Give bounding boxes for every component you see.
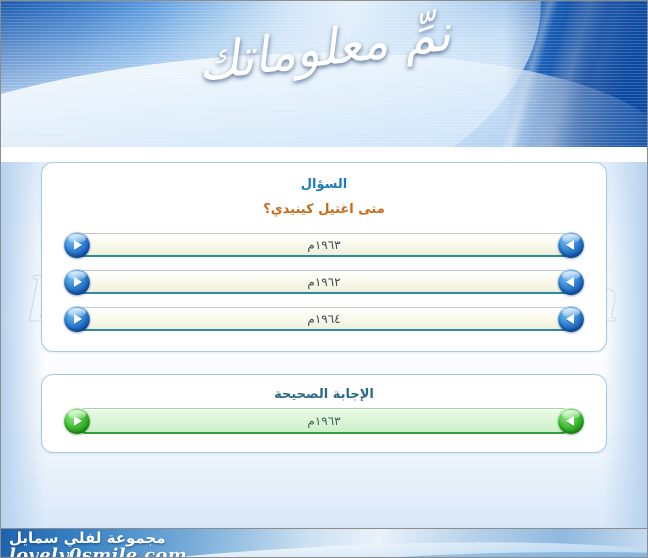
footer-banner: مجموعة لفلي سمايل lovely0smile.com bbox=[1, 528, 647, 558]
question-heading: السؤال bbox=[64, 177, 584, 192]
option-row[interactable]: ١٩٦٢م bbox=[64, 268, 584, 296]
option-label: ١٩٦٢م bbox=[307, 275, 340, 289]
triangle-glyph bbox=[74, 277, 82, 287]
header-banner: نمِّ معلوماتك bbox=[1, 1, 647, 147]
play-right-icon[interactable] bbox=[64, 269, 90, 295]
correct-answer-heading: الإجابة الصحيحة bbox=[64, 387, 584, 402]
play-right-icon[interactable] bbox=[64, 408, 90, 434]
footer-branding: مجموعة لفلي سمايل lovely0smile.com bbox=[9, 531, 187, 558]
triangle-glyph bbox=[566, 277, 574, 287]
option-row[interactable]: ١٩٦٣م bbox=[64, 231, 584, 259]
option-label: ١٩٦٤م bbox=[307, 312, 340, 326]
play-left-icon[interactable] bbox=[558, 408, 584, 434]
play-right-icon[interactable] bbox=[64, 306, 90, 332]
play-left-icon[interactable] bbox=[558, 269, 584, 295]
correct-answer-panel: الإجابة الصحيحة ١٩٦٣م bbox=[41, 374, 607, 453]
play-left-icon[interactable] bbox=[558, 232, 584, 258]
triangle-glyph bbox=[566, 240, 574, 250]
footer-website-url[interactable]: lovely0smile.com bbox=[9, 547, 187, 558]
question-text: متى اغتيل كينيدي؟ bbox=[64, 202, 584, 217]
triangle-glyph bbox=[74, 314, 82, 324]
triangle-glyph bbox=[566, 314, 574, 324]
quiz-page: نمِّ معلوماتك lovely0smile.com السؤال مت… bbox=[0, 0, 648, 558]
content-area: lovely0smile.com السؤال متى اغتيل كينيدي… bbox=[1, 162, 647, 528]
triangle-glyph bbox=[74, 416, 82, 426]
correct-answer-label: ١٩٦٣م bbox=[307, 414, 340, 428]
answer-options-list: ١٩٦٣م ١٩٦٢م bbox=[64, 231, 584, 333]
question-panel: السؤال متى اغتيل كينيدي؟ ١٩٦٣م bbox=[41, 162, 607, 352]
play-right-icon[interactable] bbox=[64, 232, 90, 258]
correct-answer-row[interactable]: ١٩٦٣م bbox=[64, 406, 584, 436]
triangle-glyph bbox=[566, 416, 574, 426]
option-label: ١٩٦٣م bbox=[307, 238, 340, 252]
triangle-glyph bbox=[74, 240, 82, 250]
option-row[interactable]: ١٩٦٤م bbox=[64, 305, 584, 333]
play-left-icon[interactable] bbox=[558, 306, 584, 332]
header-dark-edge bbox=[505, 1, 647, 147]
correct-answer-list: ١٩٦٣م bbox=[64, 406, 584, 436]
